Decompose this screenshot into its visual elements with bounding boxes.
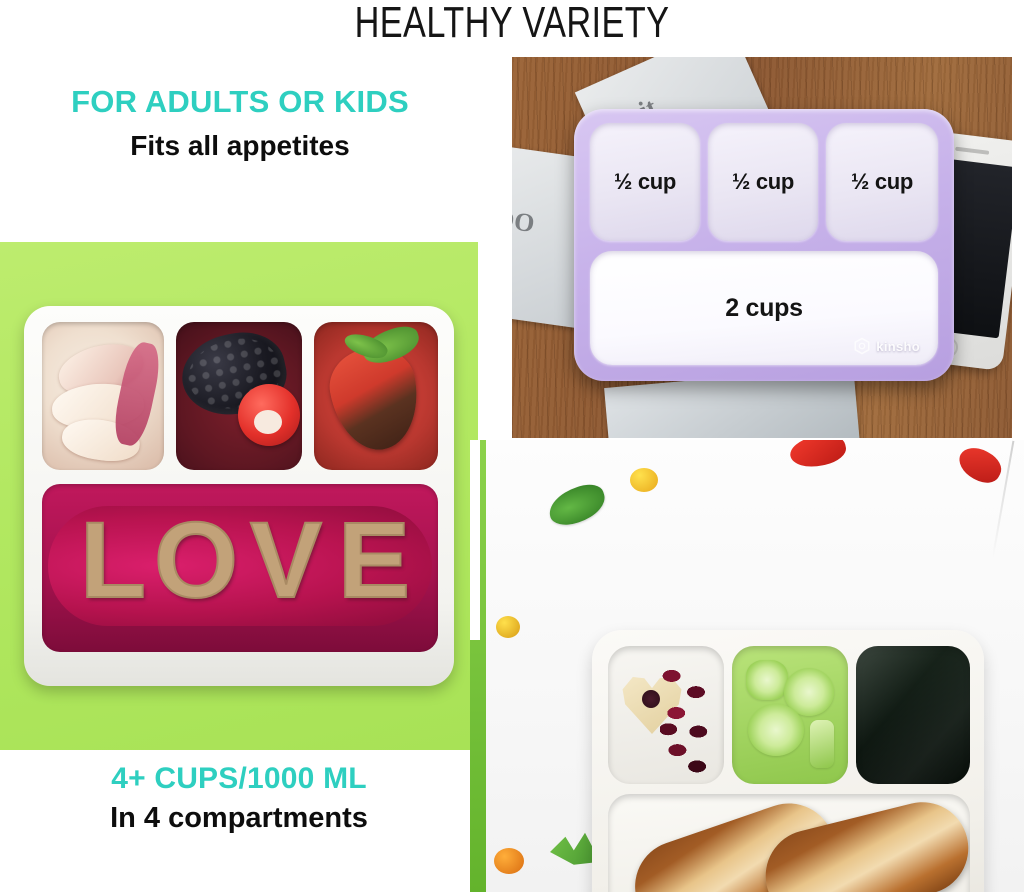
yellow-garnish — [630, 468, 658, 492]
pretzel-bento-photo — [470, 440, 1024, 892]
compartment-love-sandwich: L O V E — [42, 484, 438, 652]
scrap-ink-text: OO — [512, 204, 536, 239]
orange-garnish — [494, 848, 524, 874]
capacity-label: ½ cup — [851, 169, 913, 195]
page-title: HEALTHY VARIETY — [113, 0, 912, 48]
lower-teal-headline: 4+ CUPS/1000 ML — [14, 762, 464, 796]
phone-speaker — [955, 147, 989, 155]
lower-copy-block: 4+ CUPS/1000 ML In 4 compartments — [14, 762, 464, 834]
red-pepper-garnish — [787, 440, 848, 471]
cucumber-slice — [748, 704, 804, 756]
compartment-pretzel-sandwiches — [608, 794, 970, 892]
nori-sheen — [856, 646, 970, 784]
capacity-compartment-1: ½ cup — [590, 123, 700, 241]
compartment-peach-slices — [42, 322, 164, 470]
upper-copy-block: FOR ADULTS OR KIDS Fits all appetites — [10, 82, 470, 161]
upper-teal-headline: FOR ADULTS OR KIDS — [10, 82, 470, 122]
cream-bento-box — [592, 630, 984, 892]
capacity-label: 2 cups — [725, 294, 802, 323]
lower-black-subheadline: In 4 compartments — [14, 802, 464, 834]
yellow-garnish — [496, 616, 520, 638]
compartment-chocolate-strawberry — [314, 322, 438, 470]
capacity-compartment-2: ½ cup — [708, 123, 818, 241]
capacity-compartment-3: ½ cup — [826, 123, 938, 241]
sandwich-letter: O — [154, 506, 238, 614]
kinsho-hexagon-icon — [853, 337, 871, 355]
love-bento-photo: L O V E — [0, 242, 478, 750]
white-overlay-strip — [470, 440, 480, 640]
capacity-compartment-4: 2 cups kinsho — [590, 251, 938, 365]
upper-black-subheadline: Fits all appetites — [10, 130, 470, 161]
sandwich-letter: E — [338, 506, 410, 614]
title-bar: HEALTHY VARIETY — [0, 0, 1024, 50]
compartment-seaweed — [856, 646, 970, 784]
brand-wordmark: kinsho — [876, 339, 920, 354]
white-bento-box: L O V E — [24, 306, 454, 686]
basil-leaf-garnish — [544, 480, 610, 530]
dried-cranberries — [660, 662, 718, 778]
cucumber-chunk — [746, 660, 788, 700]
sandwich-letter: V — [250, 506, 322, 614]
sandwich-letter: L — [80, 506, 146, 614]
capacity-label: ½ cup — [614, 169, 676, 195]
cookie-center-filling — [642, 690, 660, 708]
compartment-cookie-cranberries — [608, 646, 724, 784]
capacity-bento-photo: it OO ½ cup ½ cup ½ cup 2 cups kinsho — [512, 57, 1012, 438]
cucumber-stick — [810, 720, 834, 768]
compartment-blackberry-tomato — [176, 322, 302, 470]
red-pepper-garnish — [954, 441, 1007, 488]
compartment-cucumber — [732, 646, 848, 784]
lavender-bento-box: ½ cup ½ cup ½ cup 2 cups kinsho — [574, 109, 954, 381]
brand-logo: kinsho — [853, 337, 920, 355]
cherry-tomato — [238, 384, 300, 446]
capacity-label: ½ cup — [732, 169, 794, 195]
